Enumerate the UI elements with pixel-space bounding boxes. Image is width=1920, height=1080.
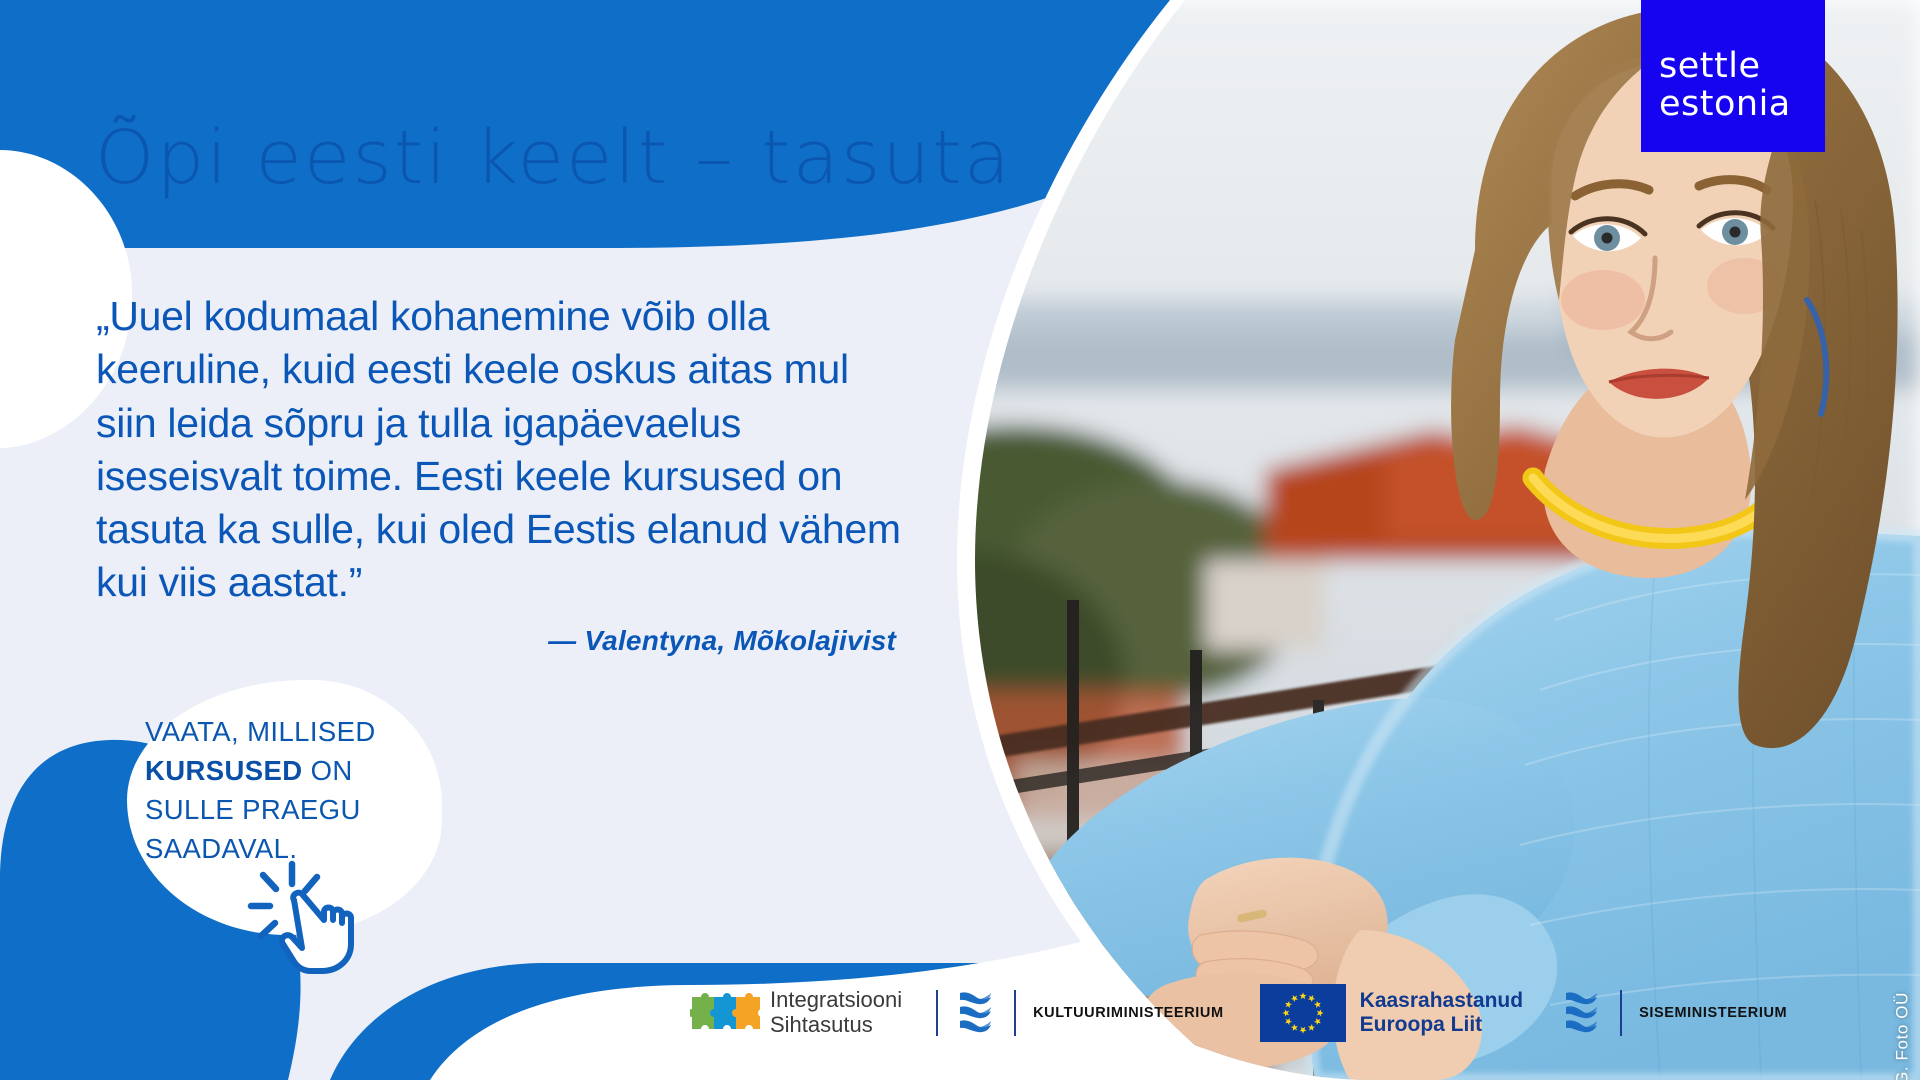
logo-line-2: estonia <box>1659 86 1791 124</box>
settle-estonia-logo-text: settle estonia <box>1659 48 1791 124</box>
logo-line-1: settle <box>1659 48 1791 86</box>
callout-line-2-rest: ON <box>303 755 353 786</box>
callout-keyword: KURSUSED <box>145 755 303 786</box>
partner-kultuuriministeerium: Kultuuriministeerium <box>955 988 1224 1038</box>
partner-kultuuriministeerium-label: Kultuuriministeerium <box>1033 1005 1224 1021</box>
partner-name-line-2: Sihtasutus <box>770 1013 902 1038</box>
partner-name-line-2: Euroopa Liit <box>1360 1013 1523 1037</box>
separator <box>1620 990 1622 1036</box>
click-hand-icon[interactable] <box>245 858 365 978</box>
eu-flag-icon <box>1260 984 1346 1042</box>
callout-text[interactable]: VAATA, MILLISED KURSUSED ON SULLE PRAEGU… <box>145 712 445 868</box>
partner-euroopa-liit-label: Kaasrahastanud Euroopa Liit <box>1360 989 1523 1037</box>
callout-line-3: SULLE PRAEGU <box>145 794 361 825</box>
callout-line-1: VAATA, MILLISED <box>145 716 376 747</box>
quote-text: „Uuel kodumaal kohanemine võib olla keer… <box>96 290 916 610</box>
hero-photo-illustration <box>955 0 1920 1080</box>
partner-siseministeerium: Siseministeerium <box>1561 988 1787 1038</box>
partner-logo-bar: Integratsiooni Sihtasutus <box>690 980 1787 1046</box>
settle-estonia-logo[interactable]: settle estonia <box>1641 0 1825 152</box>
quote-attribution: — Valentyna, Mõkolajivist <box>96 625 896 657</box>
hero-photo: Foto: A.G. Foto OÜ <box>955 0 1920 1080</box>
puzzle-pieces-icon <box>690 987 760 1039</box>
partner-name-line-1: Integratsiooni <box>770 988 902 1013</box>
estonian-coat-of-arms-icon <box>955 988 997 1038</box>
estonian-coat-of-arms-icon <box>1561 988 1603 1038</box>
separator <box>936 990 938 1036</box>
photo-credit: Foto: A.G. Foto OÜ <box>1892 992 1912 1080</box>
partner-integratsiooni-label: Integratsiooni Sihtasutus <box>770 988 902 1037</box>
partner-euroopa-liit: Kaasrahastanud Euroopa Liit <box>1260 984 1523 1042</box>
separator <box>1014 990 1016 1036</box>
partner-name-line-1: Kaasrahastanud <box>1360 989 1523 1013</box>
poster-root: Foto: A.G. Foto OÜ Õpi eesti keelt – tas… <box>0 0 1920 1080</box>
partner-siseministeerium-label: Siseministeerium <box>1639 1005 1787 1021</box>
partner-integratsiooni-sihtasutus: Integratsiooni Sihtasutus <box>690 987 902 1039</box>
page-title: Õpi eesti keelt – tasuta <box>95 120 1012 198</box>
